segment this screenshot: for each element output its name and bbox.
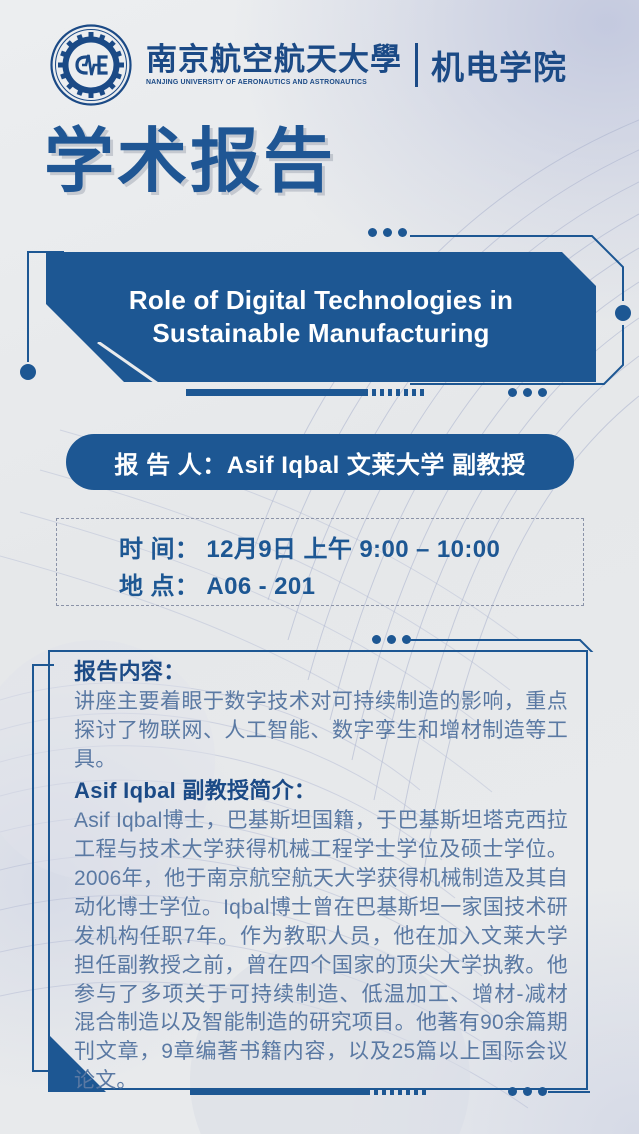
three-dots-icon (372, 635, 411, 644)
tick-bar-icon (190, 1088, 426, 1095)
tick-mark (382, 1088, 386, 1095)
tick-bar-solid (186, 389, 368, 396)
three-dots-icon (368, 228, 407, 237)
university-name-en: NANJING UNIVERSITY OF AERONAUTICS AND AS… (146, 79, 399, 86)
tick-mark (374, 1088, 378, 1095)
tick-mark (390, 1088, 394, 1095)
bio-body: Asif Iqbal博士，巴基斯坦国籍，于巴基斯坦塔克西拉工程与技术大学获得机械… (74, 807, 568, 1097)
logo-graphic: 南京航空航天大学机电学院 College of Mechanical & Ele… (50, 24, 132, 106)
talk-title-banner: Role of Digital Technologies in Sustaina… (46, 252, 596, 382)
talk-title-line1: Role of Digital Technologies in (129, 284, 513, 317)
bottom-decoration (0, 1074, 639, 1134)
content-frame-inner-border (32, 664, 54, 1072)
content-frame-lead-line (410, 632, 625, 652)
tick-mark (388, 389, 392, 396)
tick-mark (380, 389, 384, 396)
abstract-body: 讲座主要着眼于数字技术对可持续制造的影响，重点探讨了物联网、人工智能、数字孪生和… (74, 688, 568, 775)
abstract-heading: 报告内容： (74, 656, 568, 688)
three-dots-icon (508, 388, 547, 397)
tick-mark (414, 1088, 418, 1095)
university-name-cn: 南京航空航天大學 (146, 44, 402, 77)
poster-canvas: 南京航空航天大学机电学院 College of Mechanical & Ele… (0, 0, 639, 1134)
nuaa-cme-emblem-logo: 南京航空航天大学机电学院 College of Mechanical & Ele… (50, 24, 132, 106)
tick-mark (396, 389, 400, 396)
tick-mark (372, 389, 376, 396)
tick-bar-solid (190, 1088, 370, 1095)
tick-bar-icon (186, 389, 424, 396)
tick-mark (412, 389, 416, 396)
talk-title-banner-area: Role of Digital Technologies in Sustaina… (0, 222, 639, 412)
page-title: 学术报告 (44, 126, 336, 196)
college-name: 机电学院 (431, 41, 567, 89)
university-name-block: 南京航空航天大學 NANJING UNIVERSITY OF AERONAUTI… (146, 44, 402, 87)
event-info-box: 时 间： 12月9日 上午 9:00 – 10:00 地 点： A06 - 20… (56, 518, 584, 606)
event-time-row: 时 间： 12月9日 上午 9:00 – 10:00 (119, 531, 583, 568)
talk-title-text: Role of Digital Technologies in Sustaina… (46, 252, 596, 382)
tick-mark (406, 1088, 410, 1095)
poster-header: 南京航空航天大学机电学院 College of Mechanical & Ele… (0, 0, 639, 130)
content-frame: 报告内容： 讲座主要着眼于数字技术对可持续制造的影响，重点探讨了物联网、人工智能… (48, 650, 588, 1090)
speaker-bar: 报 告 人：Asif Iqbal 文莱大学 副教授 (66, 434, 574, 490)
bio-heading: Asif Iqbal 副教授简介： (74, 775, 568, 807)
tick-mark (422, 1088, 426, 1095)
talk-title-line2: Sustainable Manufacturing (152, 317, 489, 350)
tick-mark (404, 389, 408, 396)
bottom-tail-line (548, 1074, 608, 1096)
header-divider (415, 43, 418, 87)
three-dots-icon (508, 1087, 547, 1096)
tick-mark (420, 389, 424, 396)
tick-mark (398, 1088, 402, 1095)
event-place-row: 地 点： A06 - 201 (119, 568, 583, 605)
content-text-block: 报告内容： 讲座主要着眼于数字技术对可持续制造的影响，重点探讨了物联网、人工智能… (74, 656, 568, 1096)
